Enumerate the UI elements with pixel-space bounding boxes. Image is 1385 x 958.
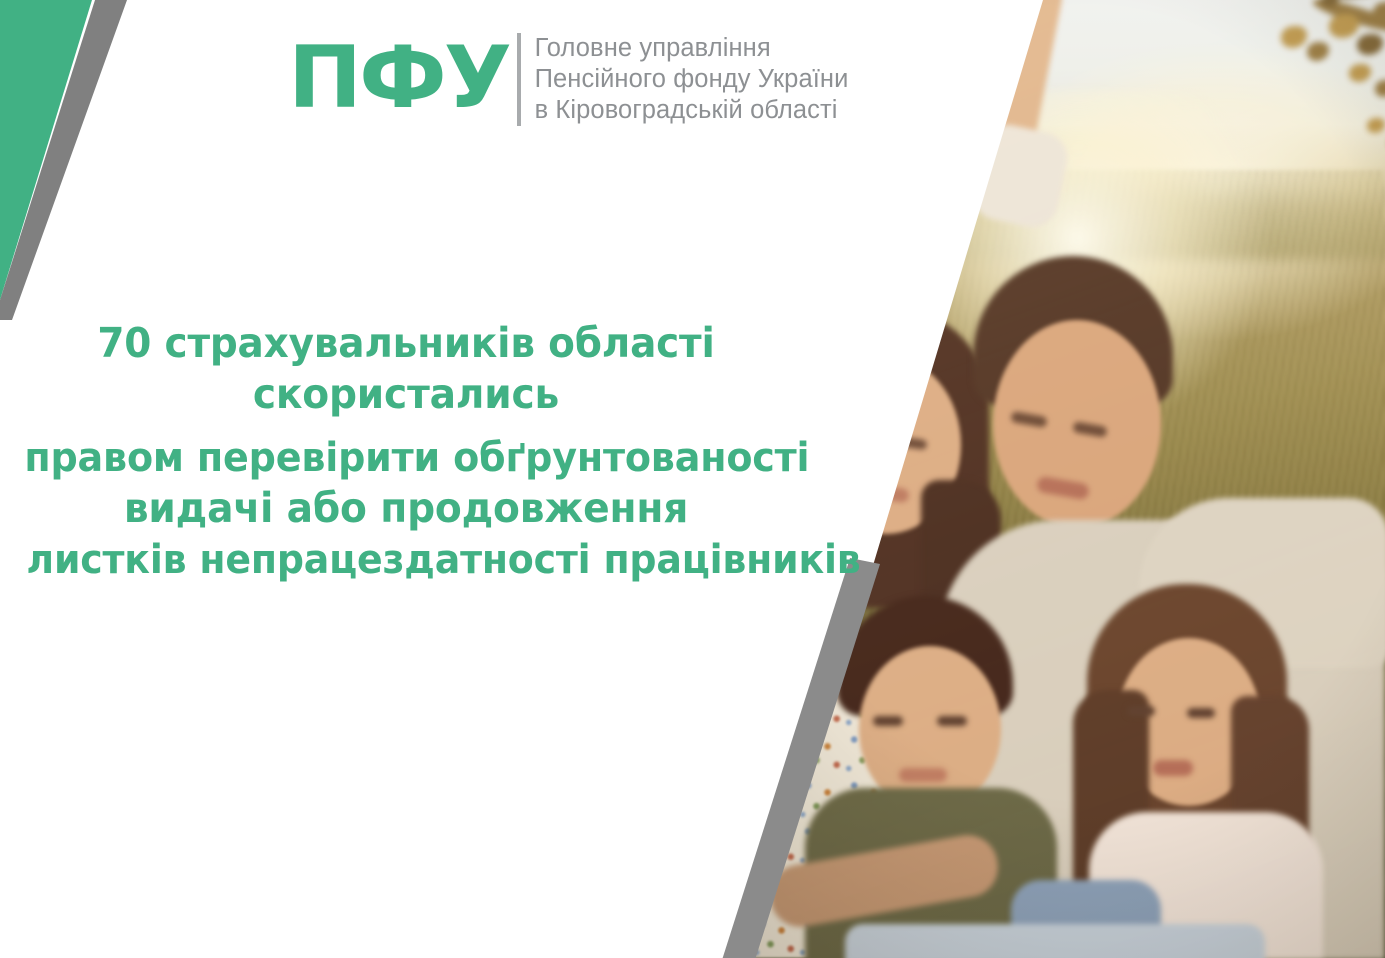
headline-line-4: видачі або продовження <box>18 483 793 534</box>
pfu-logo-mark: ПФУ <box>288 26 509 130</box>
logo-divider-rule <box>517 33 521 126</box>
headline-line-1: 70 страхувальників області <box>20 318 791 369</box>
photo-backdrop <box>725 0 1385 958</box>
pfu-logo: ПФУ Головне управління Пенсійного фонду … <box>288 26 848 130</box>
logo-organization-name: Головне управління Пенсійного фонду Укра… <box>535 26 849 130</box>
logo-line-2: Пенсійного фонду України <box>535 64 849 95</box>
headline-line-2: скористались <box>18 369 793 420</box>
headline-line-3: правом перевірити обґрунтованості <box>24 432 787 483</box>
logo-line-3: в Кіровоградській області <box>535 95 849 126</box>
headline-spacer <box>0 420 812 432</box>
headline-line-5: листків непрацездатності працівників <box>26 534 785 585</box>
headline-text: 70 страхувальників області скористались … <box>0 318 812 585</box>
photo-vignette <box>725 0 1385 958</box>
logo-line-1: Головне управління <box>535 33 849 64</box>
banner-root: ПФУ Головне управління Пенсійного фонду … <box>0 0 1385 958</box>
